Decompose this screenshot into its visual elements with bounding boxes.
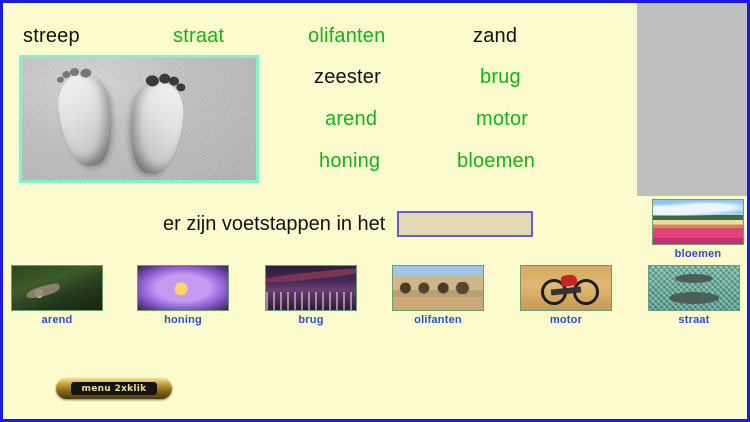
thumbnail-image-motor[interactable] <box>520 265 612 311</box>
thumbnail-bloemen[interactable]: bloemen <box>652 199 744 260</box>
thumbnail-olifanten[interactable]: olifanten <box>392 265 484 326</box>
gray-image-panel <box>637 3 750 196</box>
thumbnail-caption-straat: straat <box>648 314 740 326</box>
thumbnail-caption-arend: arend <box>11 314 103 326</box>
word-honing[interactable]: honing <box>319 150 380 173</box>
word-arend[interactable]: arend <box>325 108 377 131</box>
thumbnail-image-straat[interactable] <box>648 265 740 311</box>
thumbnail-image-olifanten[interactable] <box>392 265 484 311</box>
motor-rider-icon <box>560 274 577 287</box>
thumbnail-image-arend[interactable] <box>11 265 103 311</box>
word-streep[interactable]: streep <box>23 25 80 48</box>
thumbnail-image-bloemen[interactable] <box>652 199 744 245</box>
menu-button-plate: menu 2xklik <box>71 382 157 395</box>
thumbnail-honing[interactable]: honing <box>137 265 229 326</box>
word-bloemen[interactable]: bloemen <box>457 150 535 173</box>
thumbnail-caption-motor: motor <box>520 314 612 326</box>
sentence-row: er zijn voetstappen in het <box>163 211 533 237</box>
main-photo-footprints[interactable] <box>19 55 259 183</box>
word-brug[interactable]: brug <box>480 66 521 89</box>
activity-window: streepstraatolifantenzandzeesterbrugaren… <box>0 0 750 422</box>
sentence-text: er zijn voetstappen in het <box>163 213 385 236</box>
thumbnail-image-honing[interactable] <box>137 265 229 311</box>
word-zand[interactable]: zand <box>473 25 517 48</box>
thumbnail-image-brug[interactable] <box>265 265 357 311</box>
word-straat[interactable]: straat <box>173 25 224 48</box>
thumbnail-motor[interactable]: motor <box>520 265 612 326</box>
menu-button[interactable]: menu 2xklik <box>56 378 172 399</box>
answer-input[interactable] <box>397 211 533 237</box>
word-zeester[interactable]: zeester <box>314 66 381 89</box>
thumbnail-caption-olifanten: olifanten <box>392 314 484 326</box>
word-olifanten[interactable]: olifanten <box>308 25 385 48</box>
word-motor[interactable]: motor <box>476 108 528 131</box>
thumbnail-brug[interactable]: brug <box>265 265 357 326</box>
thumbnail-caption-honing: honing <box>137 314 229 326</box>
thumbnail-caption-brug: brug <box>265 314 357 326</box>
thumbnail-caption-bloemen: bloemen <box>652 248 744 260</box>
thumbnail-arend[interactable]: arend <box>11 265 103 326</box>
menu-button-label: menu 2xklik <box>82 384 147 394</box>
thumbnail-straat[interactable]: straat <box>648 265 740 326</box>
